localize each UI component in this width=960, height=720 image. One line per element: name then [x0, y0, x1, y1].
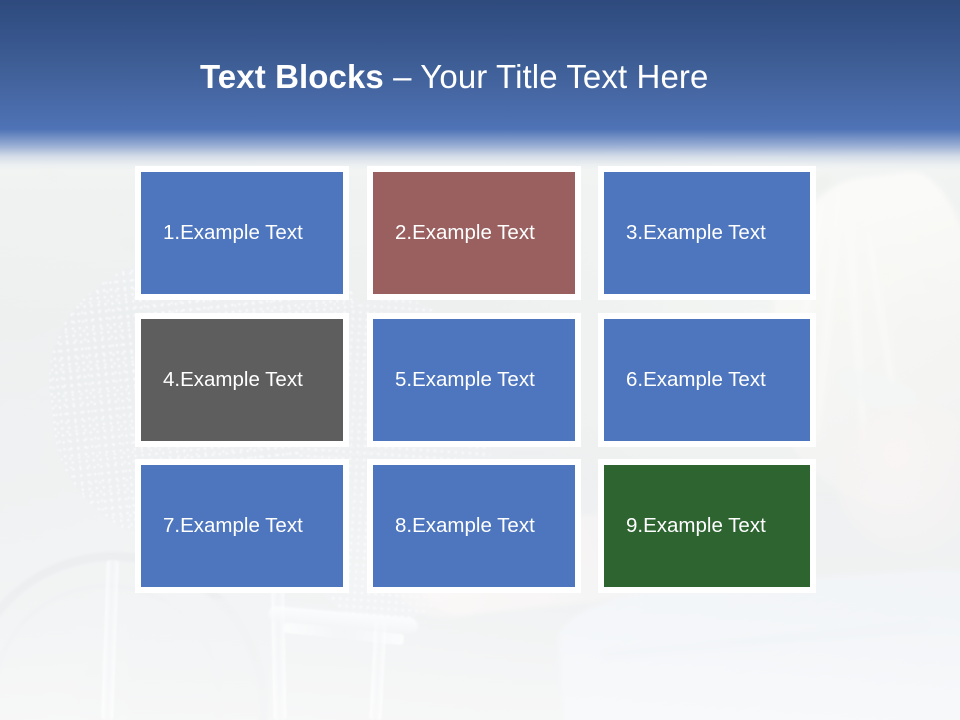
text-block-5[interactable]: 5.Example Text	[367, 313, 581, 447]
text-block-9[interactable]: 9.Example Text	[598, 459, 816, 593]
page-title-bold: Text Blocks	[200, 58, 384, 95]
page-title: Text Blocks – Your Title Text Here	[200, 56, 708, 98]
presentation-slide: Text Blocks – Your Title Text Here 1.Exa…	[0, 0, 960, 720]
text-block-7[interactable]: 7.Example Text	[135, 459, 349, 593]
text-block-2[interactable]: 2.Example Text	[367, 166, 581, 300]
text-block-7-label: 7.Example Text	[163, 514, 303, 538]
text-block-2-label: 2.Example Text	[395, 221, 535, 245]
text-block-8[interactable]: 8.Example Text	[367, 459, 581, 593]
text-block-4-label: 4.Example Text	[163, 368, 303, 392]
text-block-4[interactable]: 4.Example Text	[135, 313, 349, 447]
text-block-5-label: 5.Example Text	[395, 368, 535, 392]
text-block-1[interactable]: 1.Example Text	[135, 166, 349, 300]
text-block-3-label: 3.Example Text	[626, 221, 766, 245]
page-title-rest: – Your Title Text Here	[384, 58, 709, 95]
text-block-6-label: 6.Example Text	[626, 368, 766, 392]
text-blocks-grid: 1.Example Text 2.Example Text 3.Example …	[135, 166, 821, 596]
text-block-8-label: 8.Example Text	[395, 514, 535, 538]
text-block-3[interactable]: 3.Example Text	[598, 166, 816, 300]
text-block-9-label: 9.Example Text	[626, 514, 766, 538]
text-block-1-label: 1.Example Text	[163, 221, 303, 245]
text-block-6[interactable]: 6.Example Text	[598, 313, 816, 447]
